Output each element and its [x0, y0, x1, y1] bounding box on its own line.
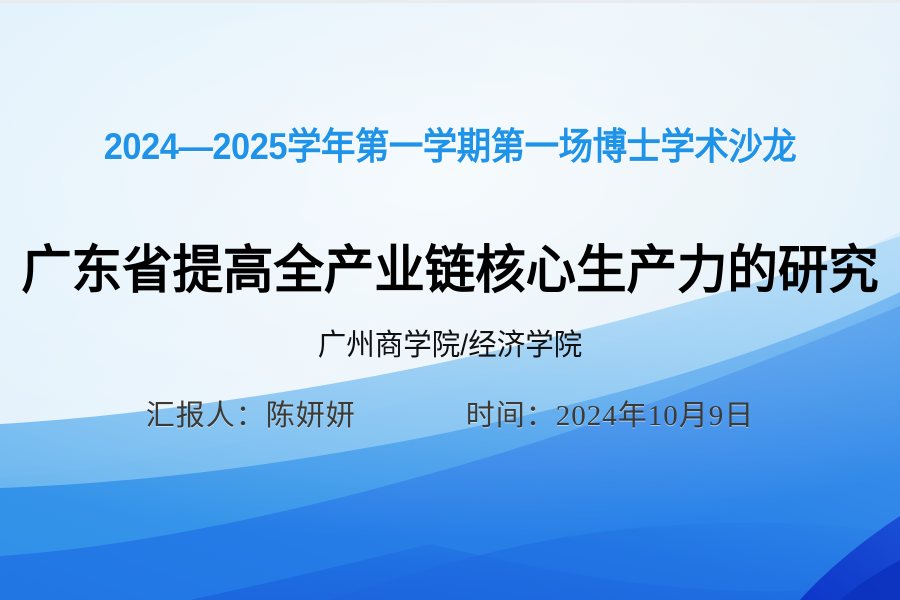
- slide-meta-row: 汇报人：陈妍妍 时间：2024年10月9日: [0, 392, 900, 434]
- affiliation-line: 广州商学院/经济学院: [23, 320, 878, 364]
- presentation-slide: 2024—2025学年第一学期第一场博士学术沙龙 广东省提高全产业链核心生产力的…: [0, 0, 900, 600]
- date-label: 时间：2024年10月9日: [466, 392, 755, 434]
- slide-content: 2024—2025学年第一学期第一场博士学术沙龙 广东省提高全产业链核心生产力的…: [0, 0, 900, 600]
- presenter-label: 汇报人：陈妍妍: [146, 392, 356, 434]
- slide-kicker: 2024—2025学年第一学期第一场博士学术沙龙: [32, 116, 869, 170]
- page-title: 广东省提高全产业链核心生产力的研究: [14, 228, 887, 303]
